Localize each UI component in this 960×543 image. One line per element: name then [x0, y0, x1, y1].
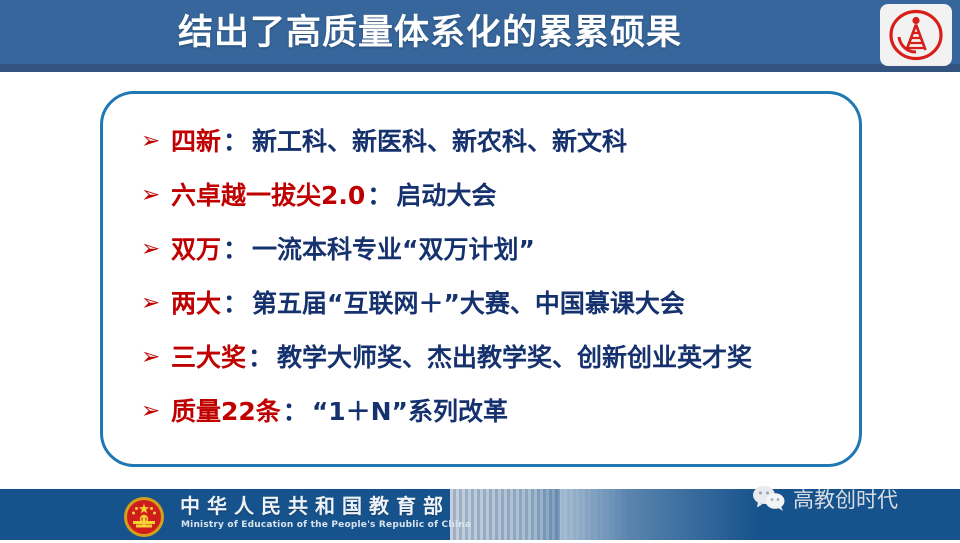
ministry-name-cn: 中华人民共和国教育部: [180, 496, 450, 516]
watermark-text: 高教创时代: [793, 490, 898, 511]
chevron-right-bullet-icon: ➢: [141, 346, 171, 369]
page-title: 结出了高质量体系化的累累硕果: [0, 0, 860, 66]
list-item-body: “1＋N”系列改革: [312, 399, 508, 424]
chevron-right-bullet-icon: ➢: [141, 184, 171, 207]
wechat-watermark: 高教创时代: [752, 484, 898, 516]
list-item: ➢ 六卓越一拔尖2.0 ： 启动大会: [141, 168, 849, 222]
list-item-label: 质量22条: [171, 399, 281, 424]
ministry-building-photo-fade: [560, 489, 760, 540]
list-item: ➢ 质量22条 ： “1＋N”系列改革: [141, 384, 849, 438]
list-item: ➢ 四新 ： 新工科、新医科、新农科、新文科: [141, 114, 849, 168]
chevron-right-bullet-icon: ➢: [141, 400, 171, 423]
list-item-label: 六卓越一拔尖2.0: [171, 183, 365, 208]
chevron-right-bullet-icon: ➢: [141, 292, 171, 315]
list-item: ➢ 双万 ： 一流本科专业“双万计划”: [141, 222, 849, 276]
content-card: ➢ 四新 ： 新工科、新医科、新农科、新文科 ➢ 六卓越一拔尖2.0 ： 启动大…: [100, 91, 862, 467]
wechat-icon: [752, 484, 786, 516]
list-item-label: 两大: [171, 291, 221, 316]
list-item-colon: ：: [223, 237, 248, 262]
list-item-colon: ：: [248, 345, 273, 370]
list-item-body: 一流本科专业“双万计划”: [252, 237, 535, 262]
list-item-colon: ：: [223, 291, 248, 316]
chevron-right-bullet-icon: ➢: [141, 130, 171, 153]
national-emblem-icon: [122, 495, 166, 539]
slide-header: 结出了高质量体系化的累累硕果: [0, 0, 960, 72]
list-item-label: 三大奖: [171, 345, 246, 370]
bullet-list: ➢ 四新 ： 新工科、新医科、新农科、新文科 ➢ 六卓越一拔尖2.0 ： 启动大…: [141, 114, 849, 438]
slide-root: 结出了高质量体系化的累累硕果 ➢ 四新 ： 新工科、新医科、新农科、新文科 ➢ …: [0, 0, 960, 540]
chevron-right-bullet-icon: ➢: [141, 238, 171, 261]
list-item-body: 教学大师奖、杰出教学奖、创新创业英才奖: [277, 345, 752, 370]
ministry-name-en: Ministry of Education of the People's Re…: [181, 521, 471, 530]
list-item: ➢ 三大奖 ： 教学大师奖、杰出教学奖、创新创业英才奖: [141, 330, 849, 384]
list-item-colon: ：: [223, 129, 248, 154]
list-item-body: 启动大会: [396, 183, 496, 208]
list-item-colon: ：: [367, 183, 392, 208]
list-item: ➢ 两大 ： 第五届“互联网＋”大赛、中国慕课大会: [141, 276, 849, 330]
list-item-label: 双万: [171, 237, 221, 262]
list-item-body: 新工科、新医科、新农科、新文科: [252, 129, 627, 154]
university-emblem-icon: [880, 4, 952, 66]
list-item-label: 四新: [171, 129, 221, 154]
list-item-colon: ：: [283, 399, 308, 424]
list-item-body: 第五届“互联网＋”大赛、中国慕课大会: [252, 291, 685, 316]
